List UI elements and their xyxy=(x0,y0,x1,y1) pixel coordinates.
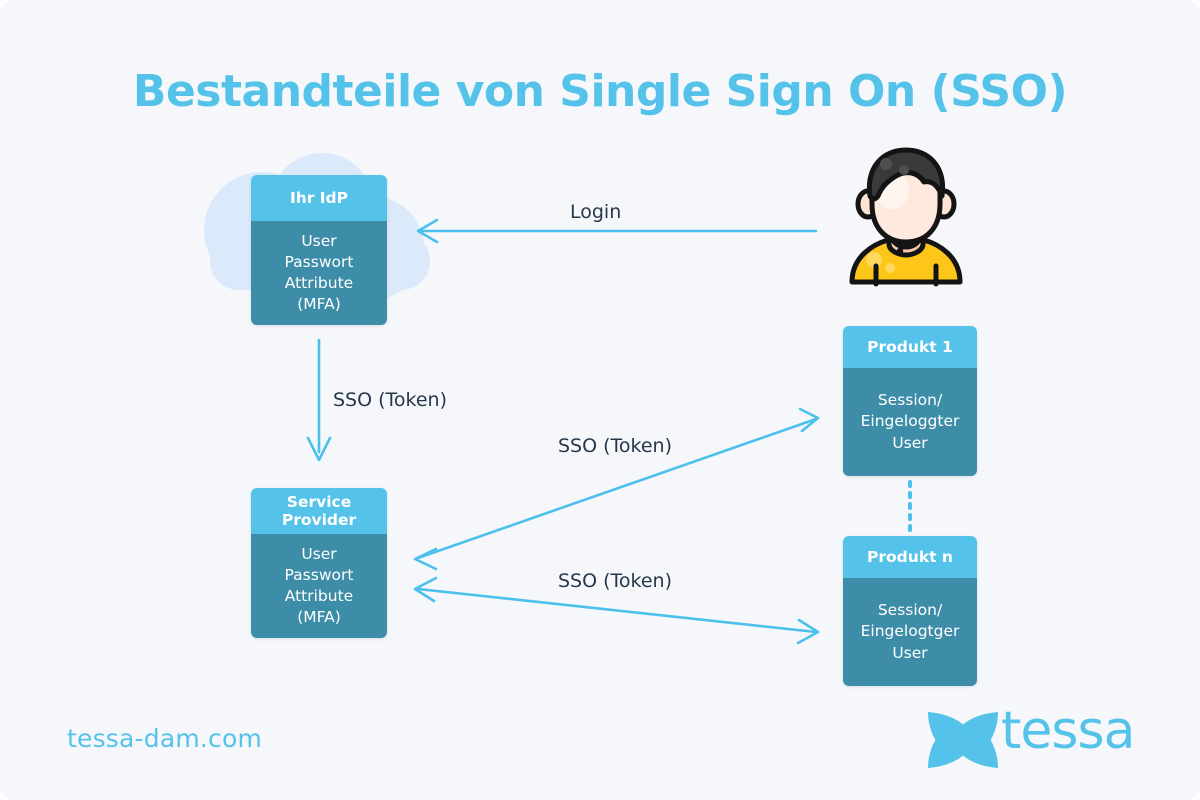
tessa-wordmark: tessa xyxy=(1001,705,1134,757)
tessa-butterfly-logo-icon xyxy=(0,0,1200,800)
diagram-canvas: Bestandteile von Single Sign On (SSO) Ih… xyxy=(0,0,1200,800)
